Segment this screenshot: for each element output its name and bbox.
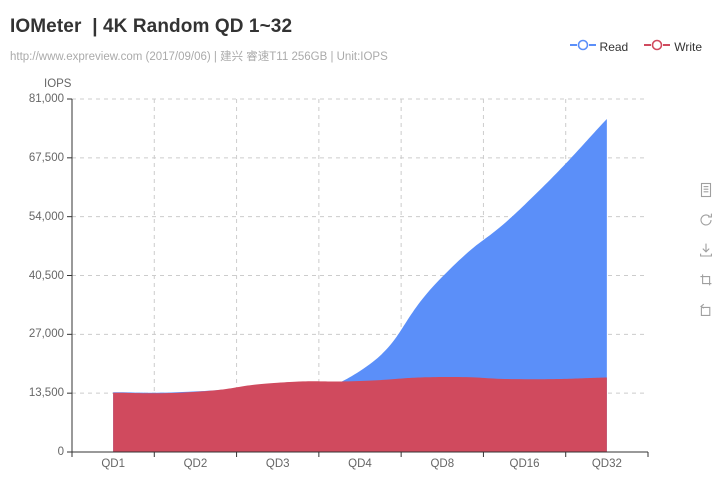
chart-root: IOMeter | 4K Random QD 1~32 http://www.e… <box>0 0 720 480</box>
x-axis-tick-label: QD3 <box>266 458 290 470</box>
x-axis-tick-label: QD16 <box>510 458 540 470</box>
restore-icon[interactable] <box>698 212 714 228</box>
data-view-icon[interactable] <box>698 182 714 198</box>
x-axis-tick-label: QD4 <box>348 458 372 470</box>
chart-toolbox <box>698 182 714 318</box>
y-axis-tick-label: 0 <box>0 446 64 458</box>
x-axis-tick-label: QD8 <box>430 458 454 470</box>
y-axis-tick-label: 67,500 <box>0 152 64 164</box>
x-axis-tick-label: QD32 <box>592 458 622 470</box>
x-axis-tick-label: QD2 <box>184 458 208 470</box>
save-image-icon[interactable] <box>698 242 714 258</box>
zoom-reset-icon[interactable] <box>698 302 714 318</box>
y-axis-tick-label: 40,500 <box>0 270 64 282</box>
y-axis-tick-label: 13,500 <box>0 387 64 399</box>
zoom-select-icon[interactable] <box>698 272 714 288</box>
x-axis-tick-label: QD1 <box>101 458 125 470</box>
chart-plot-area <box>0 0 720 480</box>
series-area-write <box>113 377 607 452</box>
y-axis-tick-label: 54,000 <box>0 211 64 223</box>
y-axis-tick-label: 81,000 <box>0 93 64 105</box>
y-axis-tick-label: 27,000 <box>0 328 64 340</box>
